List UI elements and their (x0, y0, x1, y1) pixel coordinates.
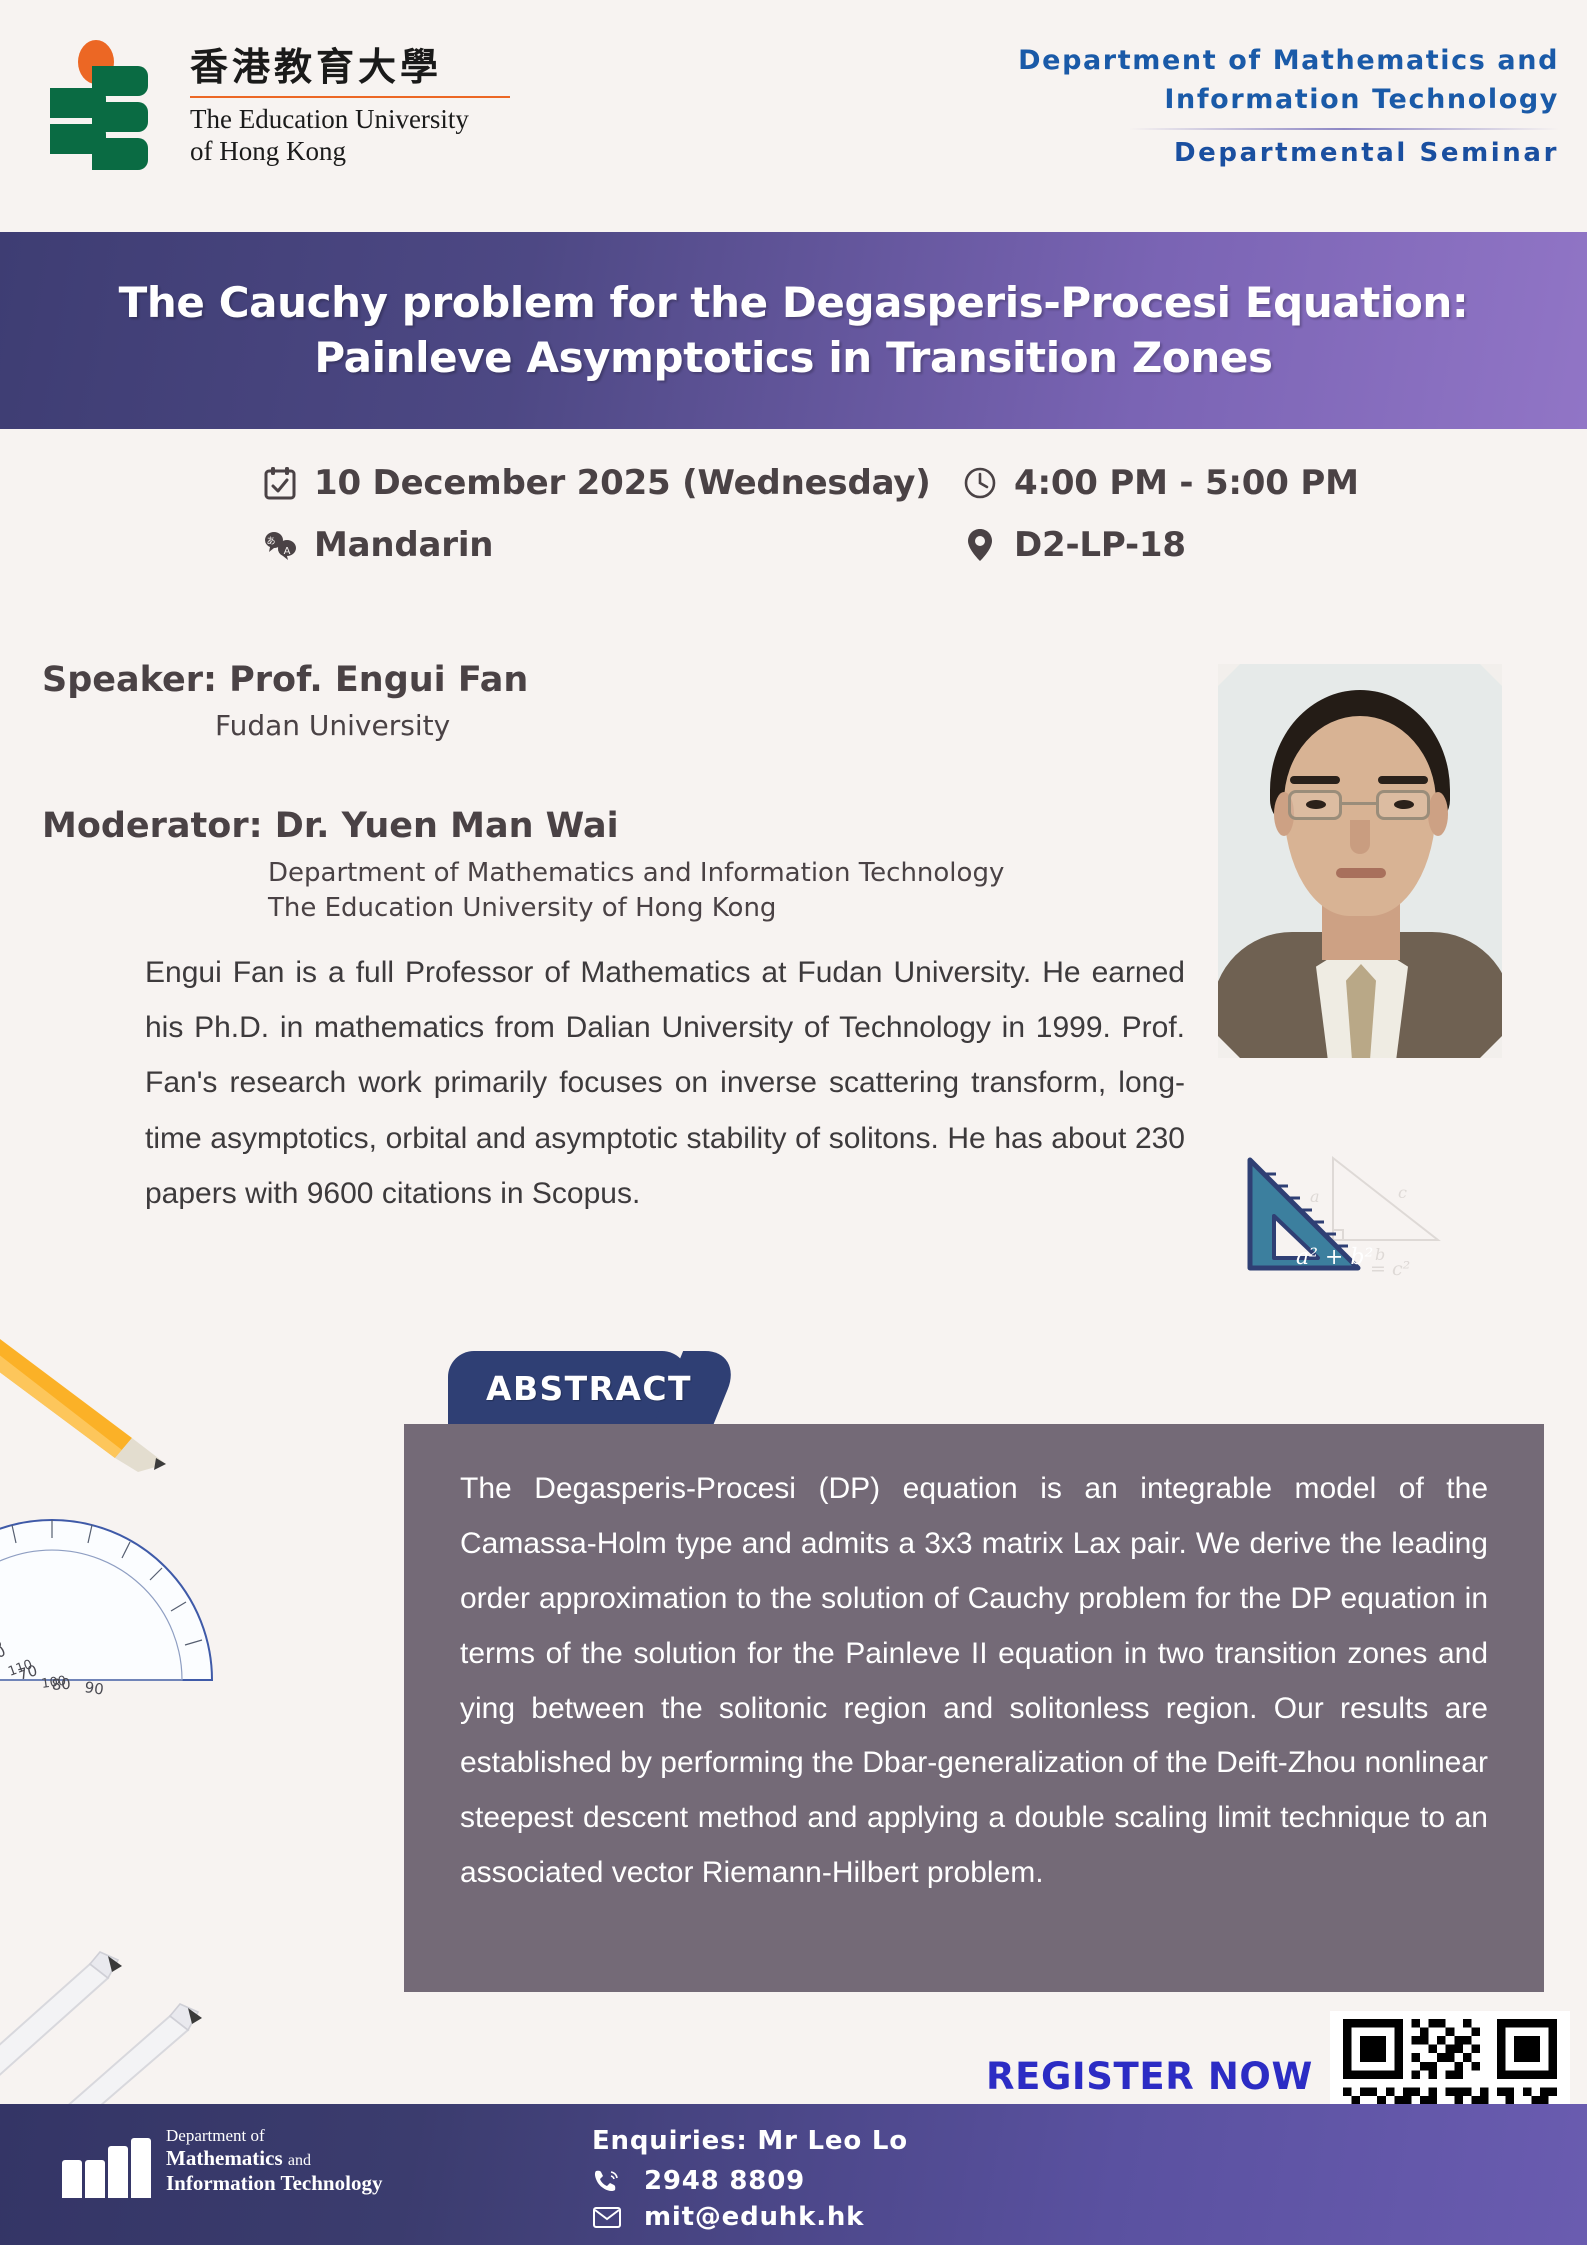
event-details: 10 December 2025 (Wednesday) 4:00 PM - 5… (0, 463, 1587, 587)
enquiries-phone-row: 2948 8809 (592, 2166, 908, 2196)
seminar-title-line1: The Cauchy problem for the Degasperis-Pr… (84, 276, 1504, 331)
page-header: 香港教育大學 The Education University of Hong … (0, 0, 1587, 232)
seminar-title-line2: Painleve Asymptotics in Transition Zones (84, 331, 1504, 386)
speaker-photo (1218, 664, 1502, 1058)
event-date-text: 10 December 2025 (Wednesday) (314, 463, 931, 503)
header-divider (1129, 128, 1559, 130)
mit-wordmark: Department of Mathematics and Informatio… (166, 2126, 382, 2198)
svg-text:= c²: = c² (1370, 1258, 1410, 1280)
event-venue: D2-LP-18 (962, 525, 1186, 565)
logo-divider (190, 96, 510, 98)
event-language-text: Mandarin (314, 525, 493, 565)
location-pin-icon (962, 527, 998, 563)
enquiries-email: mit@eduhk.hk (644, 2202, 864, 2232)
mit-logo-line3: Information Technology (166, 2171, 382, 2196)
mit-logo-line2: Mathematics and (166, 2146, 382, 2171)
university-name-en-line1: The Education University (190, 104, 510, 136)
department-header: Department of Mathematics and Informatio… (1018, 42, 1559, 168)
seminar-title: The Cauchy problem for the Degasperis-Pr… (84, 276, 1504, 385)
department-name-line2: Information Technology (1018, 81, 1559, 120)
compass-icon (0, 1930, 270, 2130)
enquiries-block: Enquiries: Mr Leo Lo 2948 8809 mit@eduhk… (592, 2126, 908, 2238)
eduhk-wordmark: 香港教育大學 The Education University of Hong … (190, 40, 510, 167)
triangle-ruler-icon: a c b = c² a² + b² (1238, 1140, 1453, 1280)
svg-text:あ: あ (266, 536, 275, 547)
department-name-line1: Department of Mathematics and (1018, 42, 1559, 81)
phone-icon (592, 2168, 622, 2194)
mit-logo-line1: Department of (166, 2126, 382, 2146)
enquiries-title: Enquiries: Mr Leo Lo (592, 2126, 908, 2156)
event-details-row-2: あ A Mandarin D2-LP-18 (0, 525, 1587, 565)
event-language: あ A Mandarin (262, 525, 962, 565)
svg-text:90: 90 (83, 1678, 104, 1698)
abstract-tab: ABSTRACT (448, 1351, 688, 1426)
calendar-icon (262, 465, 298, 501)
university-name-en-line2: of Hong Kong (190, 136, 510, 168)
abstract-box: The Degasperis-Procesi (DP) equation is … (404, 1424, 1544, 1992)
enquiries-email-row: mit@eduhk.hk (592, 2202, 908, 2232)
event-time: 4:00 PM - 5:00 PM (962, 463, 1359, 503)
enquiries-phone: 2948 8809 (644, 2166, 805, 2196)
event-venue-text: D2-LP-18 (1014, 525, 1186, 565)
mit-logo-line2-small: and (288, 2152, 311, 2169)
mit-logo-icon: Department of Mathematics and Informatio… (62, 2126, 382, 2198)
title-banner: The Cauchy problem for the Degasperis-Pr… (0, 232, 1587, 429)
event-time-text: 4:00 PM - 5:00 PM (1014, 463, 1359, 503)
page-footer: Department of Mathematics and Informatio… (0, 2104, 1587, 2245)
speaker-bio: Engui Fan is a full Professor of Mathema… (145, 945, 1185, 1221)
clock-icon (962, 465, 998, 501)
register-now-link[interactable]: REGISTER NOW (986, 2055, 1313, 2098)
eduhk-logo: 香港教育大學 The Education University of Hong … (48, 40, 510, 180)
event-details-row-1: 10 December 2025 (Wednesday) 4:00 PM - 5… (0, 463, 1587, 503)
event-date: 10 December 2025 (Wednesday) (262, 463, 962, 503)
svg-text:c: c (1398, 1183, 1407, 1202)
eduhk-logo-icon (48, 40, 168, 180)
mit-mark (62, 2136, 154, 2198)
mit-logo-line2-bold: Mathematics (166, 2146, 283, 2170)
svg-text:a: a (1310, 1187, 1320, 1206)
envelope-icon (592, 2204, 622, 2230)
abstract-text: The Degasperis-Procesi (DP) equation is … (460, 1462, 1488, 1901)
abstract-label: ABSTRACT (486, 1369, 692, 1408)
svg-text:a² + b²: a² + b² (1296, 1245, 1373, 1270)
seminar-label: Departmental Seminar (1018, 138, 1559, 168)
language-icon: あ A (262, 527, 298, 563)
university-name-cn: 香港教育大學 (190, 46, 510, 90)
protractor-icon: 40 50 60 70 80 90 130 120 110 100 (0, 1480, 252, 1880)
svg-text:A: A (284, 546, 291, 557)
